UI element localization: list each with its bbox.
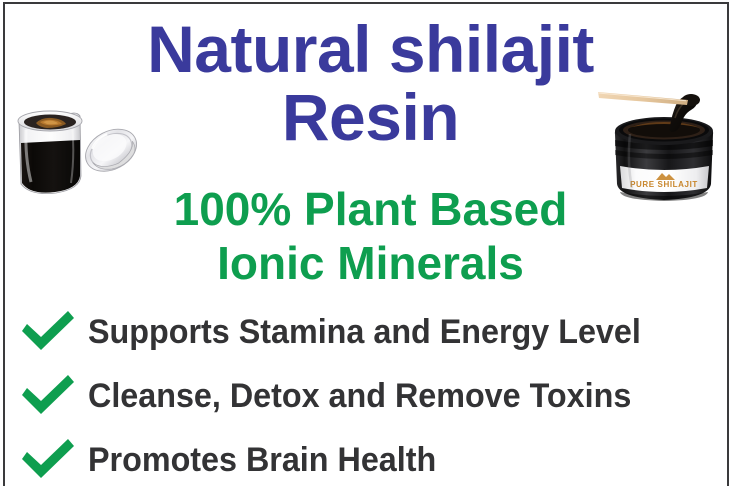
benefit-item: Promotes Brain Health (18, 434, 718, 486)
headline-line-2: Resin (0, 84, 741, 150)
check-icon (18, 437, 78, 483)
subtitle-line-1: 100% Plant Based (0, 186, 741, 232)
benefit-item: Cleanse, Detox and Remove Toxins (18, 370, 718, 422)
benefit-item: Supports Stamina and Energy Level (18, 306, 718, 358)
benefit-label: Cleanse, Detox and Remove Toxins (88, 379, 631, 413)
benefit-label: Supports Stamina and Energy Level (88, 315, 641, 349)
frame-border-top (3, 2, 729, 4)
shilajit-product-banner: PURE SHILAJIT Natural shilajit Resin 100… (0, 0, 741, 486)
headline-line-1: Natural shilajit (0, 16, 741, 82)
benefit-label: Promotes Brain Health (88, 443, 436, 477)
subtitle-line-2: Ionic Minerals (0, 240, 741, 286)
check-icon (18, 373, 78, 419)
check-icon (18, 309, 78, 355)
